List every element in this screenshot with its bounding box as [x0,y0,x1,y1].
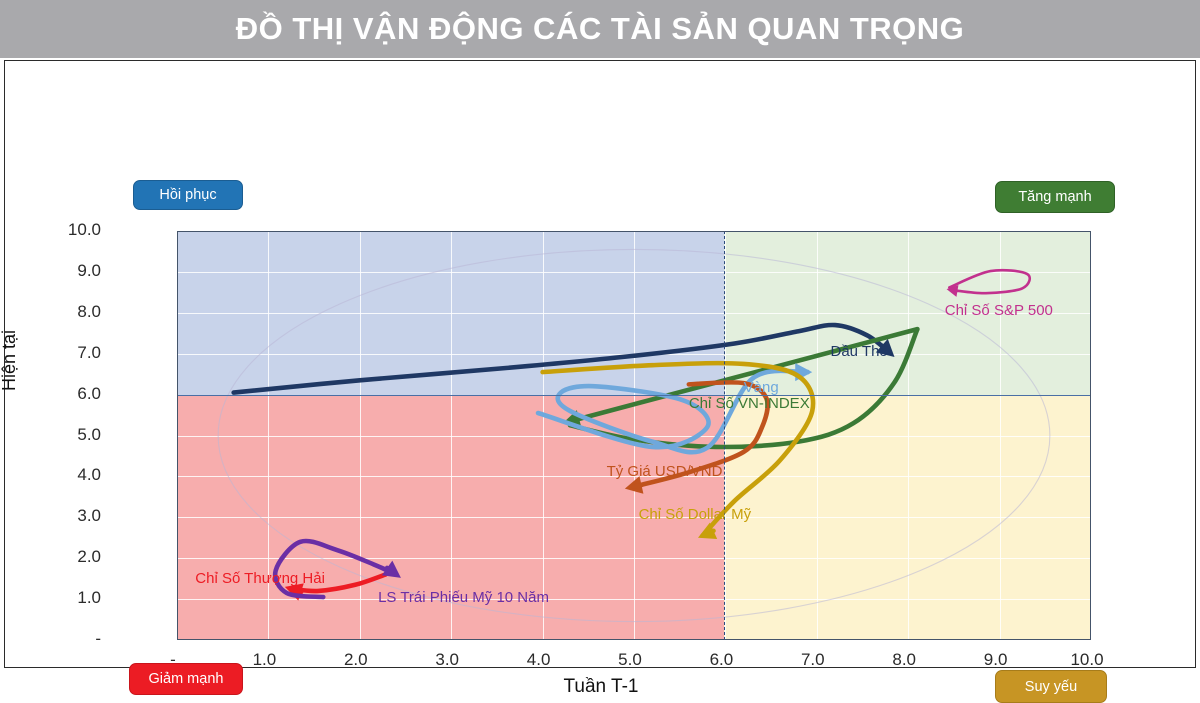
x-axis-title: Tuần T-1 [5,676,1197,698]
x-tick-label: 9.0 [966,650,1026,670]
page-title: ĐỒ THỊ VẬN ĐỘNG CÁC TÀI SẢN QUAN TRỌNG [0,0,1200,58]
series-arrow-stem [634,485,641,487]
y-axis-title: Hiện tại [0,330,20,391]
x-tick-label: 6.0 [691,650,751,670]
quadrant-divider-vertical [724,231,725,640]
y-tick-label: 3.0 [41,506,101,526]
y-tick-label: - [41,629,101,649]
series-label: Vàng [744,379,779,396]
title-bar: ĐỒ THỊ VẬN ĐỘNG CÁC TÀI SẢN QUAN TRỌNG [0,0,1200,58]
x-tick-label: 3.0 [417,650,477,670]
x-tick-label: - [143,650,203,670]
x-tick-label: 4.0 [509,650,569,670]
y-tick-label: 5.0 [41,425,101,445]
series-label: Chỉ Số S&P 500 [945,302,1053,319]
y-tick-label: 2.0 [41,547,101,567]
series-arrow-stem [291,589,301,592]
y-tick-label: 7.0 [41,343,101,363]
y-tick-label: 9.0 [41,261,101,281]
y-tick-label: 6.0 [41,384,101,404]
quadrant-divider-horizontal [177,395,1091,396]
series-line [234,325,890,393]
x-tick-label: 7.0 [783,650,843,670]
series-label: Dầu Thô [831,343,888,360]
x-tick-label: 1.0 [234,650,294,670]
quadrant-badge-recovery[interactable]: Hồi phục [133,180,243,210]
quadrant-badge-strong-up[interactable]: Tăng mạnh [995,181,1115,213]
series-line [949,270,1029,293]
series-label: Chỉ Số Dollar Mỹ [639,506,752,523]
x-tick-label: 5.0 [600,650,660,670]
x-tick-label: 2.0 [326,650,386,670]
y-tick-label: 4.0 [41,465,101,485]
chart-card: Hồi phục Tăng mạnh Giảm mạnh Suy yếu Hiệ… [4,60,1196,668]
y-tick-label: 1.0 [41,588,101,608]
x-tick-label: 10.0 [1057,650,1117,670]
series-label: Chỉ Số VN-INDEX [689,395,810,412]
series-arrow-stem [954,290,958,291]
screenshot-root: ĐỒ THỊ VẬN ĐỘNG CÁC TÀI SẢN QUAN TRỌNG H… [0,0,1200,675]
series-label: Chỉ Số Thượng Hải [195,570,325,587]
series-label: Tỷ Giá USD/VND [607,463,723,480]
series-label: LS Trái Phiếu Mỹ 10 Năm [378,589,549,606]
y-tick-label: 10.0 [41,220,101,240]
plot-area: Dầu ThôChỉ Số S&P 500Chỉ Số VN-INDEXVàng… [177,231,1091,640]
y-tick-label: 8.0 [41,302,101,322]
x-tick-label: 8.0 [874,650,934,670]
